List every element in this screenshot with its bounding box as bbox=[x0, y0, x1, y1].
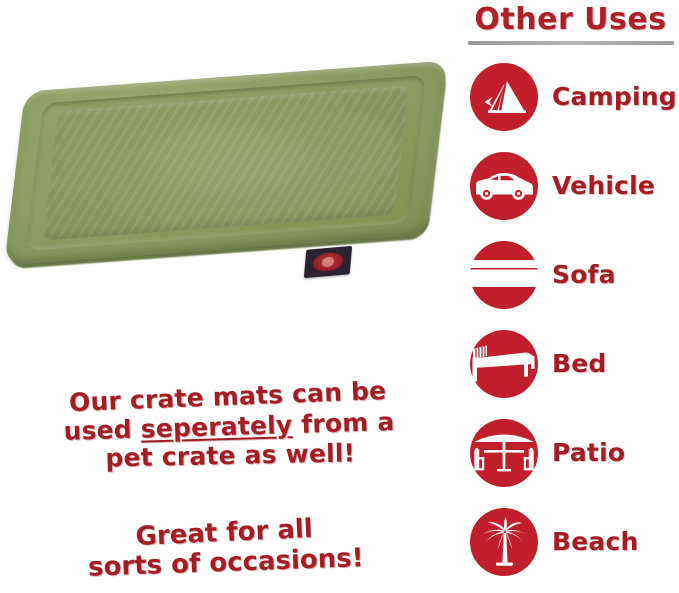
product-panel: Our crate mats can be used seperately fr… bbox=[0, 0, 455, 593]
use-row-beach: Beach bbox=[462, 497, 679, 586]
patio-umbrella-table-icon bbox=[470, 419, 538, 487]
crate-mat-illustration bbox=[0, 55, 452, 270]
use-label-patio: Patio bbox=[552, 438, 679, 467]
brand-crest-icon bbox=[312, 252, 343, 273]
palm-tree-icon bbox=[470, 508, 538, 576]
brand-label-patch bbox=[304, 246, 352, 278]
sofa-icon bbox=[470, 241, 538, 309]
title-divider bbox=[468, 41, 674, 45]
tagline-text: Our crate mats can be used seperately fr… bbox=[22, 373, 436, 480]
mat-center-cushion bbox=[43, 85, 409, 240]
use-row-patio: Patio bbox=[462, 408, 679, 497]
tagline-line-2-pre: used bbox=[63, 414, 141, 445]
use-label-vehicle: Vehicle bbox=[552, 171, 679, 200]
other-uses-title: Other Uses bbox=[462, 2, 679, 37]
tagline-line-2-post: from a bbox=[292, 407, 395, 439]
tagline-underlined-word: seperately bbox=[140, 410, 292, 443]
use-label-beach: Beach bbox=[552, 527, 679, 556]
tent-icon bbox=[470, 63, 538, 131]
use-row-vehicle: Vehicle bbox=[462, 141, 679, 230]
use-label-bed: Bed bbox=[552, 349, 679, 378]
use-row-bed: Bed bbox=[462, 319, 679, 408]
occasions-text: Great for all sorts of occasions! bbox=[39, 508, 412, 589]
car-icon bbox=[470, 152, 538, 220]
uses-list: Camping Vehicle bbox=[462, 52, 679, 586]
bed-icon bbox=[470, 330, 538, 398]
use-row-sofa: Sofa bbox=[462, 230, 679, 319]
use-label-sofa: Sofa bbox=[552, 260, 679, 289]
use-row-camping: Camping bbox=[462, 52, 679, 141]
use-label-camping: Camping bbox=[552, 82, 679, 111]
other-uses-panel: Other Uses Camping bbox=[462, 0, 679, 593]
product-image bbox=[0, 55, 452, 270]
